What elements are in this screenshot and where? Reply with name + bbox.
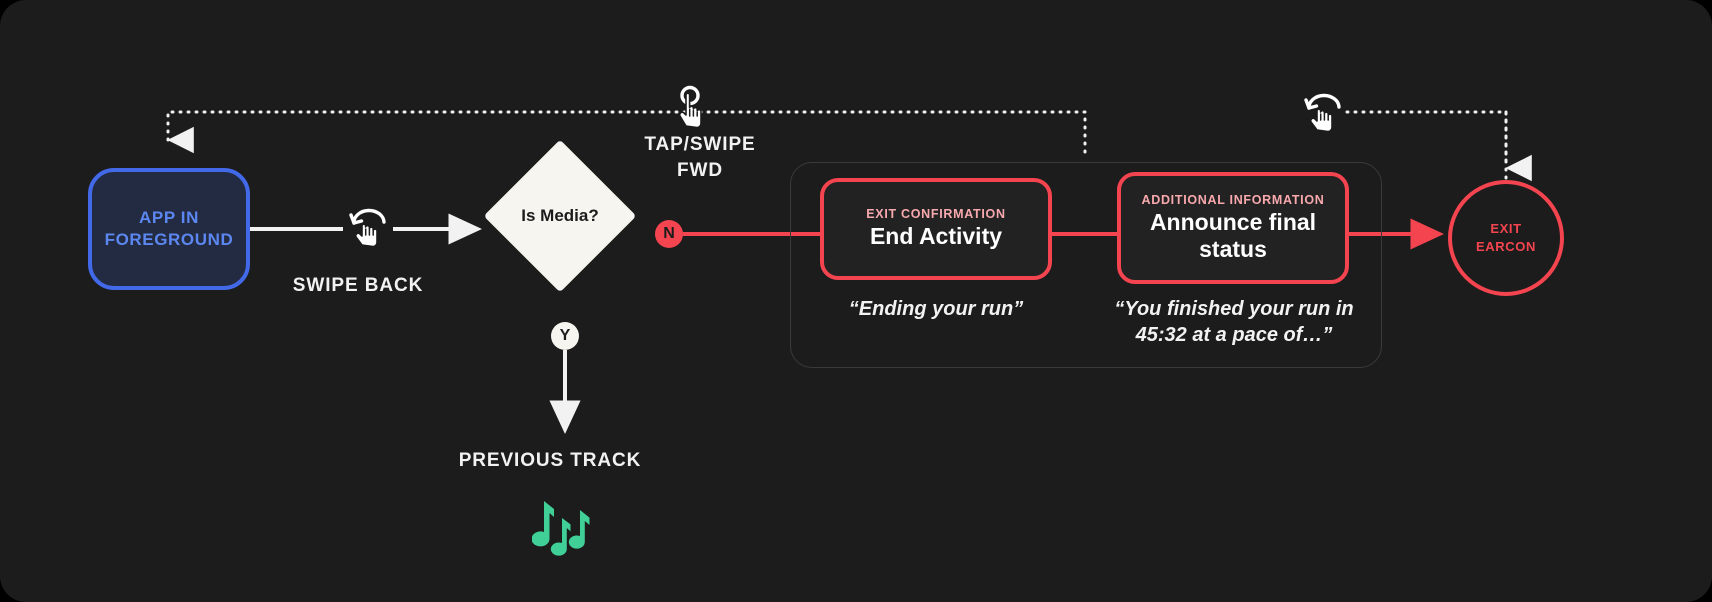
caption-tap-swipe-fwd: TAP/SWIPE FWD	[610, 132, 790, 184]
app-node-line2: FOREGROUND	[105, 230, 234, 249]
app-node-line1: APP IN	[139, 208, 199, 227]
badge-yes: Y	[551, 322, 579, 350]
caption-tap-swipe-line2: FWD	[677, 160, 723, 181]
quote-additional-information: “You finished your run in 45:32 at a pac…	[1110, 296, 1358, 348]
node-exit-earcon-label: EXIT EARCON	[1476, 220, 1536, 255]
caption-tap-swipe-line1: TAP/SWIPE	[644, 134, 755, 155]
earcon-line1: EXIT	[1490, 221, 1521, 236]
quote-exit-confirmation: “Ending your run”	[820, 296, 1052, 322]
swipe-return-gesture-icon	[1300, 90, 1348, 143]
diagram-canvas: APP IN FOREGROUND SWIPE BACK Is Media? N…	[0, 0, 1712, 602]
node-app-in-foreground[interactable]: APP IN FOREGROUND	[88, 168, 250, 290]
badge-no: N	[655, 220, 683, 248]
caption-previous-track: PREVIOUS TRACK	[420, 450, 680, 472]
music-notes-icon	[532, 500, 598, 567]
earcon-line2: EARCON	[1476, 239, 1536, 254]
node-exit-earcon[interactable]: EXIT EARCON	[1448, 180, 1564, 296]
card-exit-confirmation[interactable]: EXIT CONFIRMATION End Activity	[820, 178, 1052, 280]
card-info-title: Announce final status	[1131, 209, 1335, 263]
card-exit-title: End Activity	[870, 223, 1002, 250]
node-app-in-foreground-label: APP IN FOREGROUND	[105, 207, 234, 252]
card-exit-kicker: EXIT CONFIRMATION	[866, 207, 1005, 221]
caption-swipe-back: SWIPE BACK	[258, 275, 458, 297]
swipe-back-gesture-icon	[345, 205, 393, 258]
card-info-kicker: ADDITIONAL INFORMATION	[1142, 193, 1325, 207]
card-additional-information[interactable]: ADDITIONAL INFORMATION Announce final st…	[1117, 172, 1349, 284]
